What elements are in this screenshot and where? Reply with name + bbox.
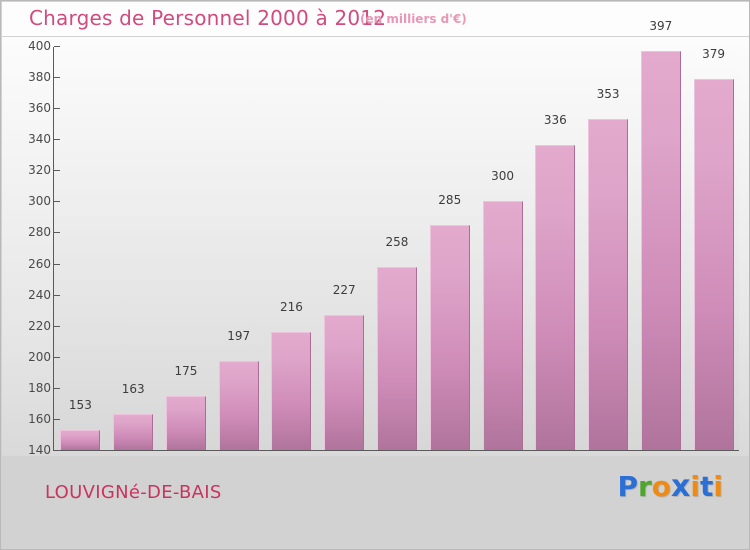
bar-value-label: 175	[174, 364, 197, 380]
y-tick-label: 160	[28, 412, 51, 426]
bar-column: 1532000	[54, 47, 107, 450]
chart-footer: LOUVIGNé-DE-BAIS Proxiti	[2, 456, 750, 548]
bar-column: 1972003	[212, 47, 265, 450]
bar[interactable]	[113, 414, 153, 450]
bar-value-label: 216	[280, 300, 303, 316]
bar-column: 2162004	[265, 47, 318, 450]
y-tick-label: 240	[28, 288, 51, 302]
bar-column: 2582006	[371, 47, 424, 450]
y-tick-label: 260	[28, 257, 51, 271]
bar-column: 3002008	[476, 47, 529, 450]
proxiti-logo[interactable]: Proxiti	[617, 469, 723, 504]
bar[interactable]	[60, 430, 100, 450]
bar-value-label: 336	[544, 113, 567, 129]
y-tick-label: 400	[28, 39, 51, 53]
logo-letter-r: r	[638, 470, 652, 503]
bar-value-label: 258	[386, 235, 409, 251]
bar[interactable]	[219, 361, 259, 450]
logo-letter-t: t	[700, 470, 713, 503]
bar-column: 3792012	[687, 47, 740, 450]
chart-unit-subtitle: (en milliers d'€)	[360, 12, 467, 26]
bar[interactable]	[377, 267, 417, 450]
bar-value-label: 227	[333, 283, 356, 299]
bar[interactable]	[641, 51, 681, 450]
chart-window: Charges de Personnel 2000 à 2012 (en mil…	[0, 0, 750, 550]
y-tick-label: 320	[28, 163, 51, 177]
y-tick-label: 200	[28, 350, 51, 364]
logo-letter-i2: i	[713, 470, 723, 503]
bar-value-label: 379	[702, 47, 725, 63]
bar[interactable]	[588, 119, 628, 450]
y-tick-label: 380	[28, 70, 51, 84]
logo-letter-o: o	[652, 470, 671, 503]
chart-header: Charges de Personnel 2000 à 2012 (en mil…	[2, 2, 750, 36]
bar-value-label: 300	[491, 169, 514, 185]
bar[interactable]	[166, 396, 206, 450]
bar[interactable]	[483, 201, 523, 450]
bar-value-label: 353	[597, 87, 620, 103]
commune-name: LOUVIGNé-DE-BAIS	[45, 482, 222, 503]
bar-value-label: 397	[649, 19, 672, 35]
bar-column: 1632001	[107, 47, 160, 450]
bar-column: 2852007	[423, 47, 476, 450]
bar-value-label: 153	[69, 398, 92, 414]
y-tick-label: 300	[28, 194, 51, 208]
y-tick-label: 360	[28, 101, 51, 115]
bar-value-label: 197	[227, 329, 250, 345]
y-tick-label: 340	[28, 132, 51, 146]
bar[interactable]	[271, 332, 311, 450]
bar-column: 3532010	[582, 47, 635, 450]
bar[interactable]	[430, 225, 470, 450]
bar[interactable]	[535, 145, 575, 450]
bar-value-label: 285	[438, 193, 461, 209]
bar-value-label: 163	[122, 382, 145, 398]
y-tick-label: 280	[28, 225, 51, 239]
plot-area: 1401601802002202402602803003203403603804…	[53, 47, 739, 451]
bar-column: 2272005	[318, 47, 371, 450]
logo-letter-i1: i	[690, 470, 700, 503]
bar[interactable]	[694, 79, 734, 450]
logo-letter-x: x	[671, 469, 690, 504]
page-title: Charges de Personnel 2000 à 2012	[29, 6, 386, 30]
bar-column: 1752002	[160, 47, 213, 450]
logo-letter-p: P	[617, 470, 638, 503]
bar-column: 3362009	[529, 47, 582, 450]
y-tick-label: 180	[28, 381, 51, 395]
y-tick-label: 220	[28, 319, 51, 333]
bar-column: 3972011	[634, 47, 687, 450]
y-tick-mark	[54, 450, 60, 451]
y-tick-label: 140	[28, 443, 51, 457]
bar[interactable]	[324, 315, 364, 450]
